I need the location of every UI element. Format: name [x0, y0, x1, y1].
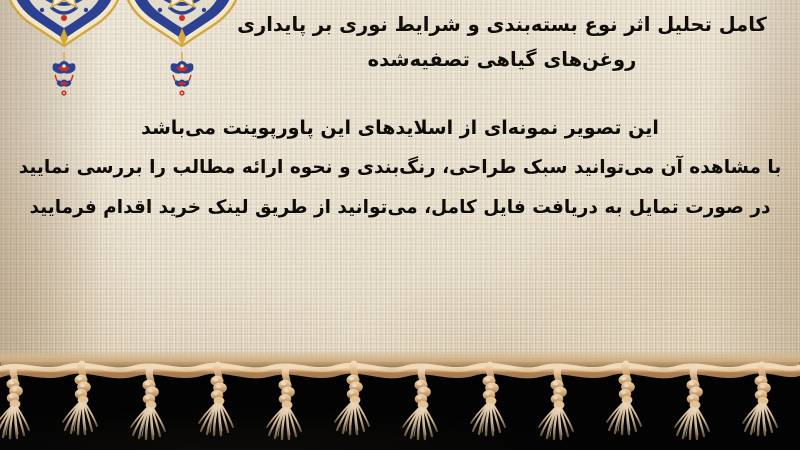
body-line-2: با مشاهده آن می‌توانید سبک طراحی، رنگ‌بن…	[10, 148, 790, 188]
title-line-2: روغن‌های گیاهی تصفیه‌شده	[222, 42, 782, 77]
carpet-knotted-fringe	[0, 350, 800, 450]
slide-body: این تصویر نمونه‌ای از اسلایدهای این پاور…	[10, 108, 790, 228]
body-line-1: این تصویر نمونه‌ای از اسلایدهای این پاور…	[10, 108, 790, 148]
title-line-1: کامل تحلیل اثر نوع بسته‌بندی و شرایط نور…	[222, 7, 782, 42]
slide-canvas: کامل تحلیل اثر نوع بسته‌بندی و شرایط نور…	[0, 0, 800, 450]
body-line-3: در صورت تمایل به دریافت فایل کامل، می‌تو…	[10, 188, 790, 228]
slide-title: کامل تحلیل اثر نوع بسته‌بندی و شرایط نور…	[222, 7, 782, 77]
